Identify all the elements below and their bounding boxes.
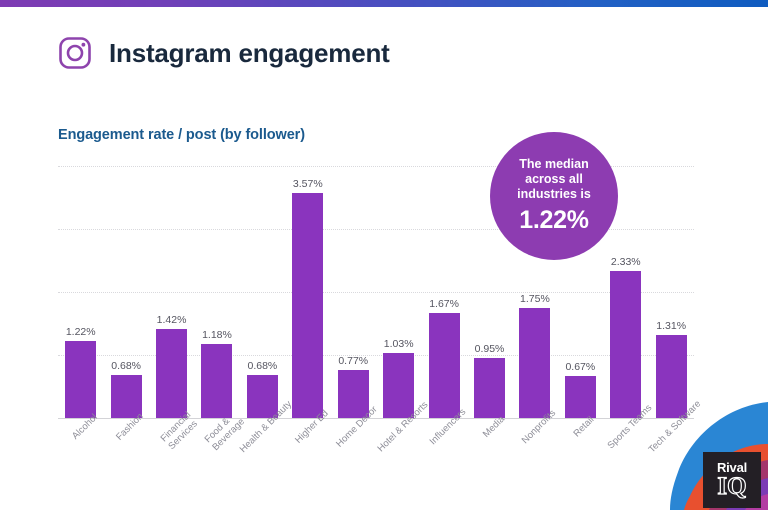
chart-page: Instagram engagement Engagement rate / p… [0,0,768,510]
x-tick-slot: Higher Ed [285,421,330,491]
x-tick-slot: Influencers [421,421,466,491]
x-tick-slot: Alcohol [58,421,103,491]
instagram-icon [58,36,92,70]
median-callout: The median across all industries is 1.22… [490,132,618,260]
bar-value-label: 1.03% [384,338,414,350]
bar-slot[interactable]: 0.68% [240,166,285,418]
chart-subtitle: Engagement rate / post (by follower) [58,127,305,143]
x-tick-slot: Fashion [103,421,148,491]
bar-slot[interactable]: 3.57% [285,166,330,418]
bar[interactable] [65,341,96,418]
x-tick-slot: Health & Beauty [240,421,285,491]
bar[interactable] [610,271,641,418]
x-tick-slot: Tech & Software [648,421,693,491]
x-tick-slot: Home Decor [331,421,376,491]
bar-value-label: 1.42% [157,314,187,326]
median-callout-text: The median across all industries is [490,157,618,202]
median-callout-value: 1.22% [519,206,588,235]
x-axis-line [58,418,694,419]
x-tick-slot: Retail [558,421,603,491]
bar-value-label: 3.57% [293,178,323,190]
bar-value-label: 1.75% [520,293,550,305]
x-tick-slot: Hotel & Resorts [376,421,421,491]
bar[interactable] [156,329,187,418]
page-header: Instagram engagement [58,36,390,70]
bar-slot[interactable]: 1.42% [149,166,194,418]
bar[interactable] [201,344,232,418]
x-tick-slot: Nonprofits [512,421,557,491]
top-gradient-bar [0,0,768,7]
bar-value-label: 0.68% [248,360,278,372]
logo-iq-text: IQ [717,474,746,499]
bar-value-label: 1.18% [202,329,232,341]
bar[interactable] [474,358,505,418]
bar[interactable] [292,193,323,418]
rival-iq-logo: Rival IQ [703,452,761,508]
bar-slot[interactable]: 1.18% [194,166,239,418]
bar[interactable] [656,335,687,418]
bar[interactable] [519,308,550,418]
bar-value-label: 0.77% [338,355,368,367]
x-tick-slot: Sports Teams [603,421,648,491]
bar[interactable] [429,313,460,418]
bar-value-label: 0.95% [475,343,505,355]
x-tick-slot: Food &Beverage [194,421,239,491]
x-tick-slot: FinancialServices [149,421,194,491]
page-title: Instagram engagement [109,38,390,69]
bar-value-label: 1.31% [656,320,686,332]
bar-slot[interactable]: 0.68% [103,166,148,418]
bar-value-label: 2.33% [611,256,641,268]
bar-value-label: 1.67% [429,298,459,310]
x-axis-labels: AlcoholFashionFinancialServicesFood &Bev… [58,421,694,491]
bar-slot[interactable]: 1.03% [376,166,421,418]
bar-slot[interactable]: 1.22% [58,166,103,418]
bar-value-label: 0.67% [565,361,595,373]
bar-slot[interactable]: 1.31% [648,166,693,418]
bar[interactable] [383,353,414,418]
x-tick-slot: Media [467,421,512,491]
bar-slot[interactable]: 1.67% [421,166,466,418]
bar-value-label: 0.68% [111,360,141,372]
bar-slot[interactable]: 0.77% [331,166,376,418]
bar[interactable] [565,376,596,418]
bar-value-label: 1.22% [66,326,96,338]
